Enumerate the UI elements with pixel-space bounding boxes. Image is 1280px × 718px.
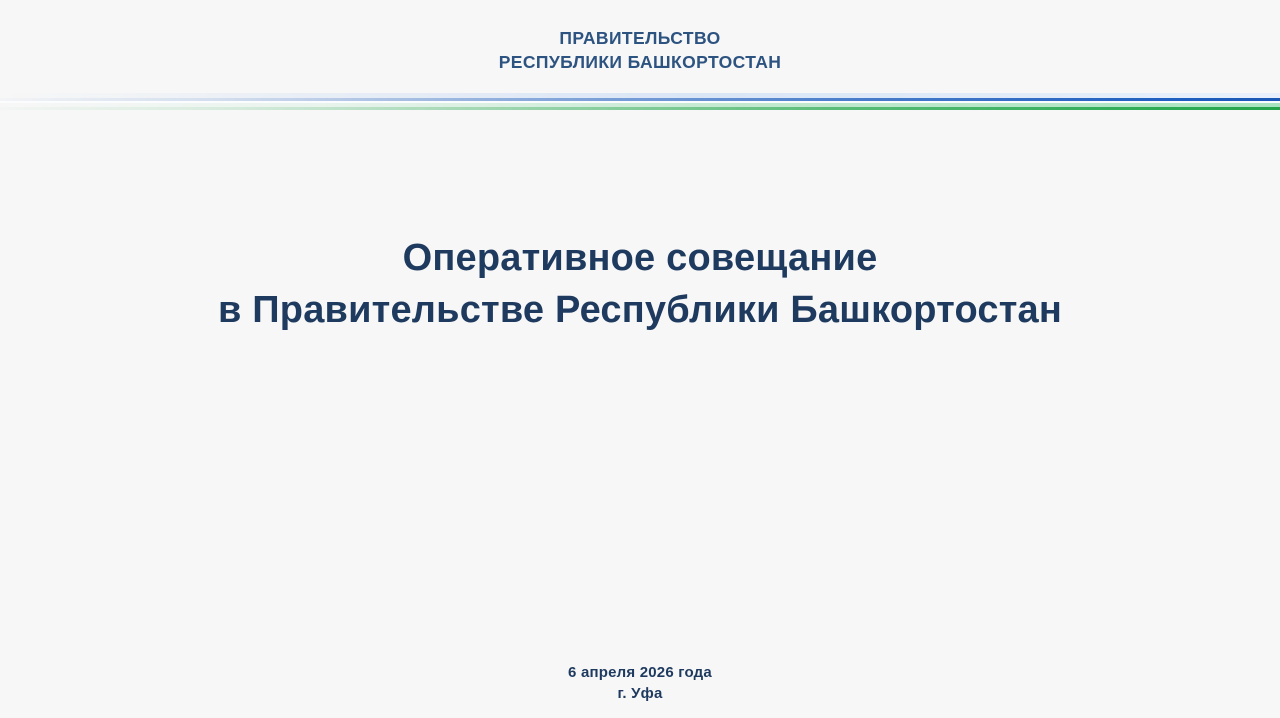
slide-header: ПРАВИТЕЛЬСТВО РЕСПУБЛИКИ БАШКОРТОСТАН [0, 0, 1280, 93]
slide-footer: 6 апреля 2026 года г. Уфа [0, 662, 1280, 704]
title-line-1: Оперативное совещание [0, 232, 1280, 284]
gradient-divider [0, 93, 1280, 111]
presentation-slide: ПРАВИТЕЛЬСТВО РЕСПУБЛИКИ БАШКОРТОСТАН Оп… [0, 0, 1280, 718]
footer-date: 6 апреля 2026 года [0, 662, 1280, 683]
divider-green-rule [0, 107, 1280, 110]
title-line-2: в Правительстве Республики Башкортостан [0, 284, 1280, 336]
page-title: Оперативное совещание в Правительстве Ре… [0, 232, 1280, 336]
organization-name-line-1: ПРАВИТЕЛЬСТВО [559, 26, 720, 50]
footer-city: г. Уфа [0, 683, 1280, 704]
organization-name-line-2: РЕСПУБЛИКИ БАШКОРТОСТАН [499, 50, 782, 74]
